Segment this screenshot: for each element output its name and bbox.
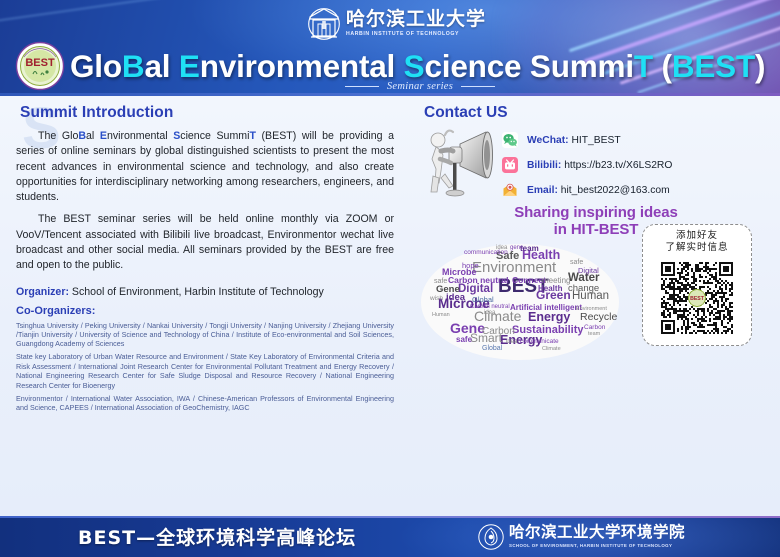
word-cloud-term: Digital	[578, 266, 599, 275]
wechat-qr-code[interactable]: BEST	[655, 256, 739, 340]
footer-logo-names: 哈尔滨工业大学环境学院 SCHOOL OF ENVIRONMENT, HARBI…	[509, 525, 685, 548]
intro-p1-title: GloBal Environmental Science SummiT	[62, 130, 256, 142]
footer-bar: BEST—全球环境科学高峰论坛 哈尔滨工业大学环境学院 SCHOOL OF EN…	[0, 516, 780, 557]
intro-paragraph-2: The BEST seminar series will be held onl…	[16, 212, 394, 273]
word-cloud-term: hope	[462, 261, 479, 270]
contact-section: Contact US	[424, 104, 768, 352]
contact-label-email: Email:	[527, 185, 558, 196]
contact-text-email: Email: hit_best2022@163.com	[527, 185, 670, 196]
svg-text:BEST: BEST	[25, 57, 55, 69]
word-cloud-term: Climate	[542, 346, 561, 352]
footer-top-rule	[0, 516, 780, 518]
contact-row-bilibili[interactable]: Bilibili: https://b23.tv/X6LS2RO	[502, 154, 672, 176]
word-cloud-term: wish	[429, 295, 443, 302]
footer-school-cn: 哈尔滨工业大学环境学院	[509, 525, 685, 541]
bilibili-icon	[502, 157, 518, 173]
word-cloud-term: communicate	[520, 338, 559, 345]
word-cloud-term: safe	[456, 335, 473, 344]
wechat-icon	[502, 132, 518, 148]
svg-text:BEST: BEST	[690, 296, 705, 302]
contact-value-email: hit_best2022@163.com	[558, 185, 670, 196]
word-cloud-term: idea	[506, 339, 518, 345]
rule-left	[345, 86, 379, 87]
word-cloud-term: Global	[482, 345, 503, 352]
footer-title: BEST—全球环境科学高峰论坛	[78, 523, 356, 550]
word-cloud: BESTEnvironmentMicrobeClimateGeneHealthE…	[420, 242, 628, 350]
intro-title-segment: Glo	[62, 130, 79, 142]
hit-crest-icon	[478, 524, 504, 550]
intro-title-segment: al	[86, 130, 100, 142]
wordcloud-and-qr: BESTEnvironmentMicrobeClimateGeneHealthE…	[424, 242, 768, 352]
word-cloud-term: safe	[434, 278, 447, 285]
intro-paragraph-1: The GloBal Environmental Science SummiT …	[16, 129, 394, 205]
co-organizers-list: Tsinghua University / Peking University …	[16, 321, 394, 413]
rule-right	[461, 86, 495, 87]
contact-text-bilibili: Bilibili: https://b23.tv/X6LS2RO	[527, 160, 672, 171]
word-cloud-term: idea	[484, 310, 496, 316]
sharing-line-1: Sharing inspiring ideas	[514, 204, 678, 221]
hit-crest-icon	[307, 7, 341, 41]
co-organizer-line: Environmentor / International Water Asso…	[16, 394, 394, 413]
co-organizer-line: State key Laboratory of Urban Water Reso…	[16, 352, 394, 390]
seminar-series-label: Seminar series	[387, 81, 453, 92]
contact-value-bilibili: https://b23.tv/X6LS2RO	[561, 160, 672, 171]
best-logo-badge: BEST	[14, 41, 66, 91]
megaphone-figure-icon	[424, 126, 496, 200]
contact-label-bilibili: Bilibili:	[527, 160, 561, 171]
contact-list: WeChat: HIT_BEST	[502, 129, 672, 204]
word-cloud-term: safe	[570, 259, 583, 266]
summit-introduction-heading: Summit Introduction	[20, 104, 394, 122]
intro-title-segment: B	[78, 130, 86, 142]
seminar-series-row: Seminar series	[70, 79, 770, 93]
intro-p1-pre: The	[38, 130, 62, 142]
summit-introduction-section: S Summit Introduction The GloBal Environ…	[16, 104, 394, 416]
contact-value-wechat: HIT_BEST	[569, 135, 621, 146]
footer-school-logo: 哈尔滨工业大学环境学院 SCHOOL OF ENVIRONMENT, HARBI…	[478, 522, 685, 551]
word-cloud-term: Carbon	[482, 326, 515, 337]
header-streak	[0, 0, 199, 27]
word-cloud-term: Environment	[576, 306, 607, 312]
email-icon	[502, 182, 518, 198]
contact-body: WeChat: HIT_BEST	[424, 124, 768, 202]
organizer-value: School of Environment, Harbin Institute …	[69, 286, 324, 298]
intro-title-segment: cience Summi	[180, 130, 249, 142]
word-cloud-term: Carbon neutral	[448, 275, 508, 285]
organizer-line: Organizer: School of Environment, Harbin…	[16, 285, 394, 299]
intro-title-segment: E	[100, 130, 107, 142]
word-cloud-term: team	[520, 244, 539, 253]
qr-caption-line-1: 添加好友	[648, 230, 746, 242]
hit-university-logo: 哈尔滨工业大学 HARBIN INSTITUTE OF TECHNOLOGY	[307, 4, 483, 44]
co-organizers-heading: Co-Organizers:	[16, 305, 394, 317]
hit-name-en: HARBIN INSTITUTE OF TECHNOLOGY	[346, 32, 486, 37]
hit-logo-names: 哈尔滨工业大学 HARBIN INSTITUTE OF TECHNOLOGY	[346, 10, 486, 37]
contact-row-wechat[interactable]: WeChat: HIT_BEST	[502, 129, 672, 151]
contact-us-heading: Contact US	[424, 104, 768, 122]
qr-code-card[interactable]: 添加好友 了解实时信息 BEST	[642, 224, 752, 346]
word-cloud-term: change	[568, 283, 599, 294]
contact-text-wechat: WeChat: HIT_BEST	[527, 135, 621, 146]
contact-label-wechat: WeChat:	[527, 135, 569, 146]
word-cloud-term: idea	[496, 245, 508, 251]
word-cloud-term: Global	[472, 295, 494, 304]
intro-title-segment: nvironmental	[107, 130, 173, 142]
poster-body: S Summit Introduction The GloBal Environ…	[0, 96, 780, 516]
word-cloud-term: idea	[446, 292, 466, 303]
footer-school-en: SCHOOL OF ENVIRONMENT, HARBIN INSTITUTE …	[509, 544, 685, 548]
word-cloud-term: Health	[538, 284, 563, 293]
poster-root: 哈尔滨工业大学 HARBIN INSTITUTE OF TECHNOLOGY B…	[0, 0, 780, 557]
word-cloud-term: Recycle	[580, 311, 618, 323]
hit-name-cn: 哈尔滨工业大学	[346, 10, 486, 29]
organizer-label: Organizer:	[16, 286, 69, 298]
word-cloud-term: Human	[432, 312, 450, 318]
contact-row-email[interactable]: Email: hit_best2022@163.com	[502, 179, 672, 201]
word-cloud-term: team	[588, 331, 601, 337]
header-banner: 哈尔滨工业大学 HARBIN INSTITUTE OF TECHNOLOGY B…	[0, 0, 780, 96]
word-cloud-term: Carbon	[584, 324, 606, 331]
word-cloud-term: Artificial intelligent	[510, 303, 582, 312]
word-cloud-term: Energy	[528, 310, 570, 324]
qr-caption-line-2: 了解实时信息	[648, 242, 746, 254]
co-organizer-line: Tsinghua University / Peking University …	[16, 321, 394, 349]
